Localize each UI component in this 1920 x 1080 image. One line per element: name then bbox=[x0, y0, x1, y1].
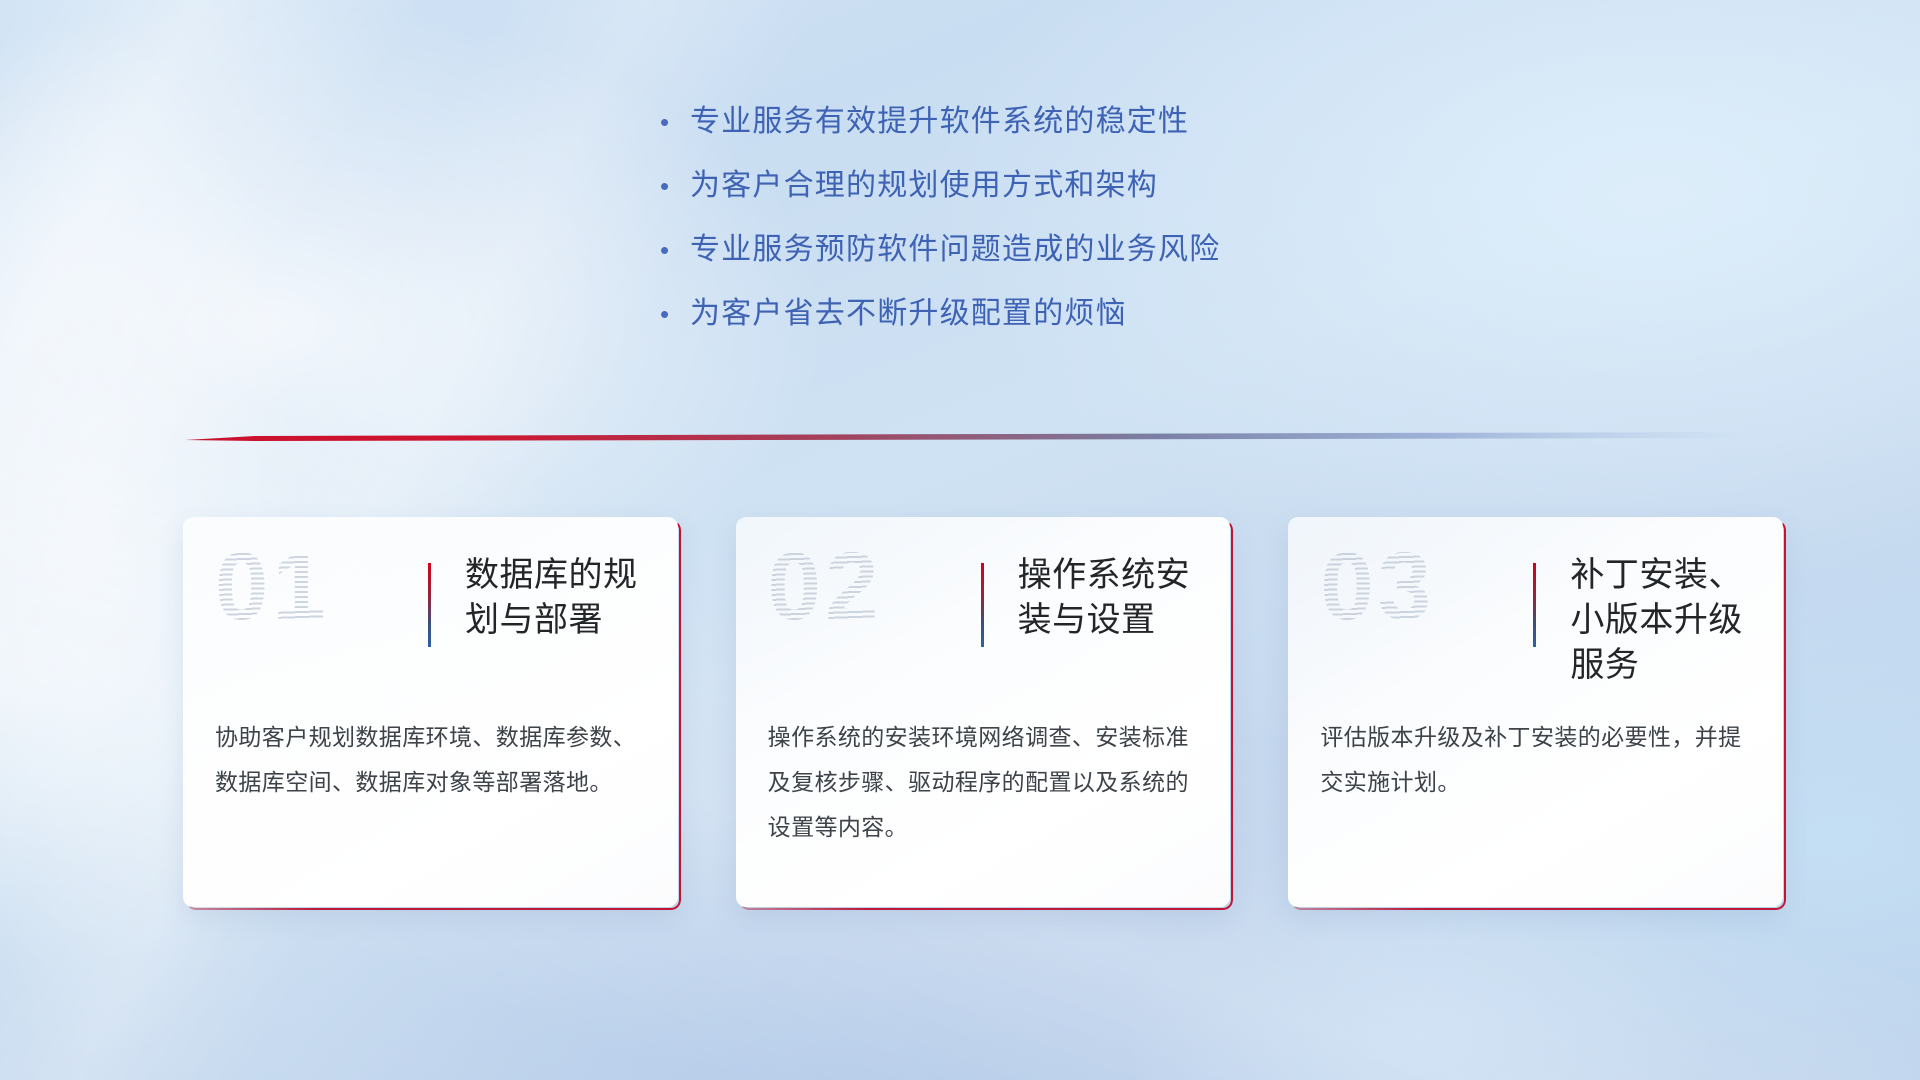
card-description: 协助客户规划数据库环境、数据库参数、数据库空间、数据库对象等部署落地。 bbox=[215, 715, 647, 805]
card-divider-rule bbox=[1533, 563, 1536, 647]
card-surface: 01 数据库的规划与部署 协助客户规划数据库环境、数据库参数、数据库空间、数据库… bbox=[183, 517, 678, 907]
service-card-row: 01 数据库的规划与部署 协助客户规划数据库环境、数据库参数、数据库空间、数据库… bbox=[183, 517, 1783, 917]
card-title: 操作系统安装与设置 bbox=[1018, 553, 1218, 643]
bullet-marker-icon: • bbox=[660, 301, 690, 327]
bullet-marker-icon: • bbox=[660, 109, 690, 135]
card-header: 02 操作系统安装与设置 bbox=[736, 517, 1231, 692]
card-surface: 02 操作系统安装与设置 操作系统的安装环境网络调查、安装标准及复核步骤、驱动程… bbox=[736, 517, 1231, 907]
bullet-marker-icon: • bbox=[660, 173, 690, 199]
card-title: 数据库的规划与部署 bbox=[465, 553, 665, 643]
card-divider-rule bbox=[981, 563, 984, 647]
list-item: • 专业服务有效提升软件系统的稳定性 bbox=[660, 96, 1220, 160]
card-surface: 03 补丁安装、小版本升级服务 评估版本升级及补丁安装的必要性，并提交实施计划。 bbox=[1288, 517, 1783, 907]
card-header: 01 数据库的规划与部署 bbox=[183, 517, 678, 692]
bullet-text: 为客户合理的规划使用方式和架构 bbox=[690, 160, 1158, 204]
card-description: 评估版本升级及补丁安装的必要性，并提交实施计划。 bbox=[1320, 715, 1752, 805]
bullet-text: 专业服务预防软件问题造成的业务风险 bbox=[690, 224, 1220, 268]
card-number: 01 bbox=[215, 539, 330, 635]
slide-canvas: • 专业服务有效提升软件系统的稳定性 • 为客户合理的规划使用方式和架构 • 专… bbox=[0, 0, 1920, 1080]
section-divider bbox=[185, 428, 1745, 444]
card-header: 03 补丁安装、小版本升级服务 bbox=[1288, 517, 1783, 692]
card-divider-rule bbox=[428, 563, 431, 647]
list-item: • 为客户合理的规划使用方式和架构 bbox=[660, 160, 1220, 224]
card-number: 02 bbox=[768, 539, 883, 635]
bullet-text: 专业服务有效提升软件系统的稳定性 bbox=[690, 96, 1189, 140]
list-item: • 专业服务预防软件问题造成的业务风险 bbox=[660, 224, 1220, 288]
bullet-marker-icon: • bbox=[660, 237, 690, 263]
service-card-01[interactable]: 01 数据库的规划与部署 协助客户规划数据库环境、数据库参数、数据库空间、数据库… bbox=[183, 517, 678, 907]
card-title: 补丁安装、小版本升级服务 bbox=[1570, 553, 1770, 688]
divider-wedge-icon bbox=[185, 428, 1745, 444]
card-description: 操作系统的安装环境网络调查、安装标准及复核步骤、驱动程序的配置以及系统的设置等内… bbox=[768, 715, 1200, 850]
service-card-03[interactable]: 03 补丁安装、小版本升级服务 评估版本升级及补丁安装的必要性，并提交实施计划。 bbox=[1288, 517, 1783, 907]
card-number: 03 bbox=[1320, 539, 1435, 635]
list-item: • 为客户省去不断升级配置的烦恼 bbox=[660, 288, 1220, 352]
benefits-bullet-list: • 专业服务有效提升软件系统的稳定性 • 为客户合理的规划使用方式和架构 • 专… bbox=[660, 96, 1220, 352]
service-card-02[interactable]: 02 操作系统安装与设置 操作系统的安装环境网络调查、安装标准及复核步骤、驱动程… bbox=[736, 517, 1231, 907]
bullet-text: 为客户省去不断升级配置的烦恼 bbox=[690, 288, 1127, 332]
